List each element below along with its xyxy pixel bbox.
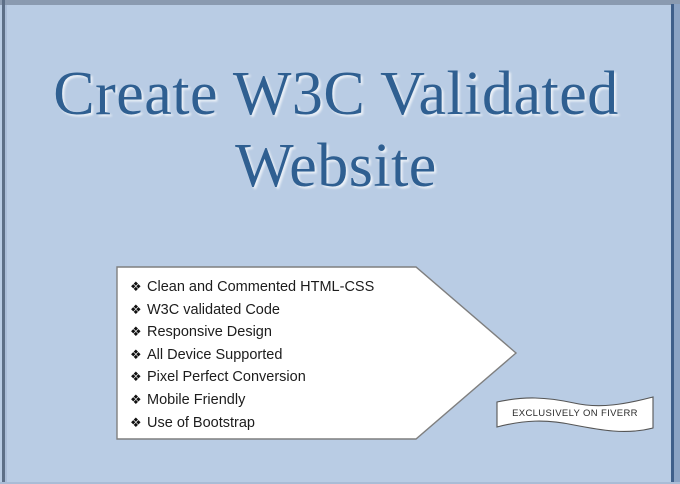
slide-title: Create W3C Validated Website [0,58,672,202]
diamond-bullet-icon: ❖ [130,299,147,321]
diamond-bullet-icon: ❖ [130,389,147,411]
list-item-label: Responsive Design [147,322,272,344]
badge-label: EXCLUSIVELY ON FIVERR [494,408,656,419]
list-item: ❖ Use of Bootstrap [130,412,430,435]
list-item: ❖ Clean and Commented HTML-CSS [130,276,430,299]
list-item: ❖ All Device Supported [130,344,430,367]
list-item-label: Pixel Perfect Conversion [147,367,306,389]
list-item: ❖ Mobile Friendly [130,389,430,412]
feature-list-arrow-box: ❖ Clean and Commented HTML-CSS ❖ W3C val… [116,266,518,440]
slide-canvas: Create W3C Validated Website ❖ Clean and… [0,0,680,484]
list-item: ❖ Pixel Perfect Conversion [130,366,430,389]
diamond-bullet-icon: ❖ [130,412,147,434]
slide-border-top [0,0,680,5]
slide-title-line-2: Website [0,130,672,202]
list-item-label: Clean and Commented HTML-CSS [147,277,374,299]
exclusivity-badge: EXCLUSIVELY ON FIVERR [494,394,656,438]
diamond-bullet-icon: ❖ [130,366,147,388]
list-item: ❖ Responsive Design [130,321,430,344]
list-item-label: All Device Supported [147,345,282,367]
diamond-bullet-icon: ❖ [130,276,147,298]
list-item-label: Use of Bootstrap [147,413,255,435]
list-item-label: Mobile Friendly [147,390,245,412]
diamond-bullet-icon: ❖ [130,321,147,343]
slide-title-line-1: Create W3C Validated [0,58,672,130]
list-item-label: W3C validated Code [147,300,280,322]
feature-list: ❖ Clean and Commented HTML-CSS ❖ W3C val… [130,276,430,434]
diamond-bullet-icon: ❖ [130,344,147,366]
list-item: ❖ W3C validated Code [130,299,430,322]
slide-border-right-outer [674,4,680,484]
